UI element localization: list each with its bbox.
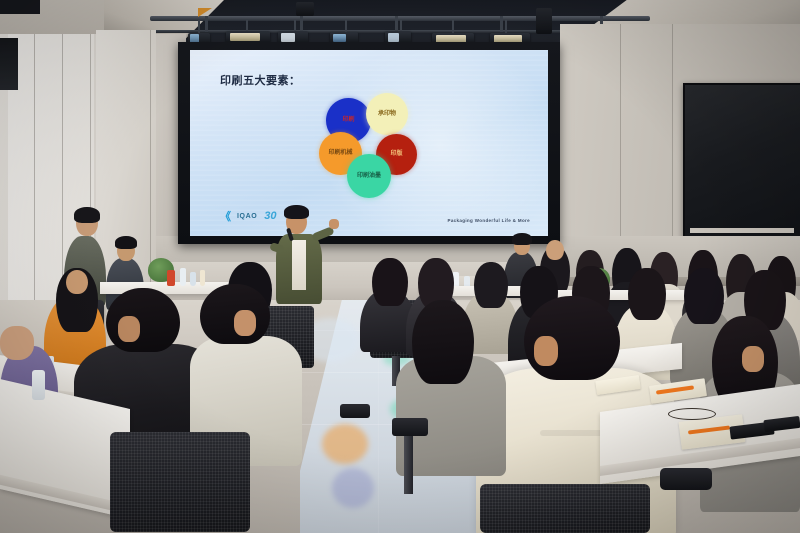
wall-display-left-edge (0, 38, 18, 90)
truss-hanger (300, 16, 303, 32)
wall-monitor-right[interactable] (683, 83, 800, 240)
bubble-label: 印刷 (342, 117, 354, 123)
eyeglasses[interactable] (668, 408, 716, 420)
attendee-orange-sweater-head (66, 270, 88, 294)
floor-reflection-blue (332, 468, 374, 508)
attendee-cream-jacket-ear (534, 336, 558, 366)
slide-bubble-ink: 印刷油墨 (347, 154, 391, 198)
presenter-shirt (292, 240, 306, 290)
brand-swirl-icon: 《 (220, 208, 230, 224)
chair-post (404, 436, 413, 494)
truss-hanger (395, 16, 398, 32)
stage-light-lens (333, 34, 346, 42)
stage-light-lens (281, 33, 295, 42)
drink-can (167, 270, 175, 286)
ceiling-speaker (296, 2, 314, 16)
attendee-hair-long (372, 258, 408, 306)
attendee-white-shirt-ear (234, 310, 256, 336)
ceiling-recess-left (0, 0, 40, 14)
chair-front-right[interactable] (480, 484, 650, 533)
water-bottle (32, 370, 45, 400)
bubble-label: 印版 (390, 151, 402, 157)
water-cup (190, 272, 196, 286)
chair-armrest (660, 468, 712, 490)
attendee-hair-long (474, 262, 508, 308)
chair-armrest (340, 404, 370, 418)
ceiling-speaker (536, 8, 552, 34)
presenter-hand-right (329, 219, 339, 229)
projection-screen[interactable]: 印刷五大要素： 印刷 承印物 印刷机械 印版 印刷油墨 《 IQAO 30 Pa… (190, 50, 548, 236)
chair-front-left[interactable] (110, 432, 250, 532)
stage-light-lens (388, 33, 399, 42)
chair-armrest (392, 418, 428, 436)
attendee-hair (512, 233, 532, 245)
truss-hanger (205, 16, 208, 32)
attendee-standing-hair (74, 207, 100, 223)
monitor-mount-strip (690, 228, 794, 233)
photo-canvas: 印刷五大要素： 印刷 承印物 印刷机械 印版 印刷油墨 《 IQAO 30 Pa… (0, 0, 800, 533)
attendee-grey-woman-ear (742, 346, 764, 372)
bubble-label: 承印物 (378, 111, 396, 117)
brand-name: IQAO (237, 213, 257, 220)
anniversary-badge: 30 (264, 210, 276, 222)
attendee-hair (115, 236, 137, 249)
slide-tagline: Packaging Wonderful Life & More (447, 218, 530, 223)
water-cup (200, 270, 205, 286)
light-yoke (198, 20, 200, 34)
stage-light-lens (230, 33, 260, 41)
bubble-label: 印刷油墨 (357, 173, 381, 179)
attendee-black-jacket-ear (118, 316, 140, 342)
attendee-hair-long (684, 268, 724, 324)
bubble-label: 印刷机械 (328, 150, 352, 156)
truss-hanger (500, 16, 503, 32)
attendee-head (546, 240, 564, 260)
attendee-black-jacket-hair (106, 288, 180, 352)
attendee-beige-coat-hair (412, 300, 474, 384)
floor-reflection-orange (322, 424, 368, 464)
water-bottle (180, 268, 186, 286)
light-yoke (452, 20, 454, 34)
attendee-purple-top-head (0, 326, 34, 360)
slide-bubble-substrate: 承印物 (366, 93, 408, 135)
light-yoke (505, 20, 507, 33)
attendee-hair-long (628, 268, 666, 320)
slide-title: 印刷五大要素： (220, 72, 301, 88)
presenter-hair (284, 205, 309, 219)
wall-seam (34, 34, 35, 334)
slide-logo-group: 《 IQAO 30 (220, 208, 277, 224)
